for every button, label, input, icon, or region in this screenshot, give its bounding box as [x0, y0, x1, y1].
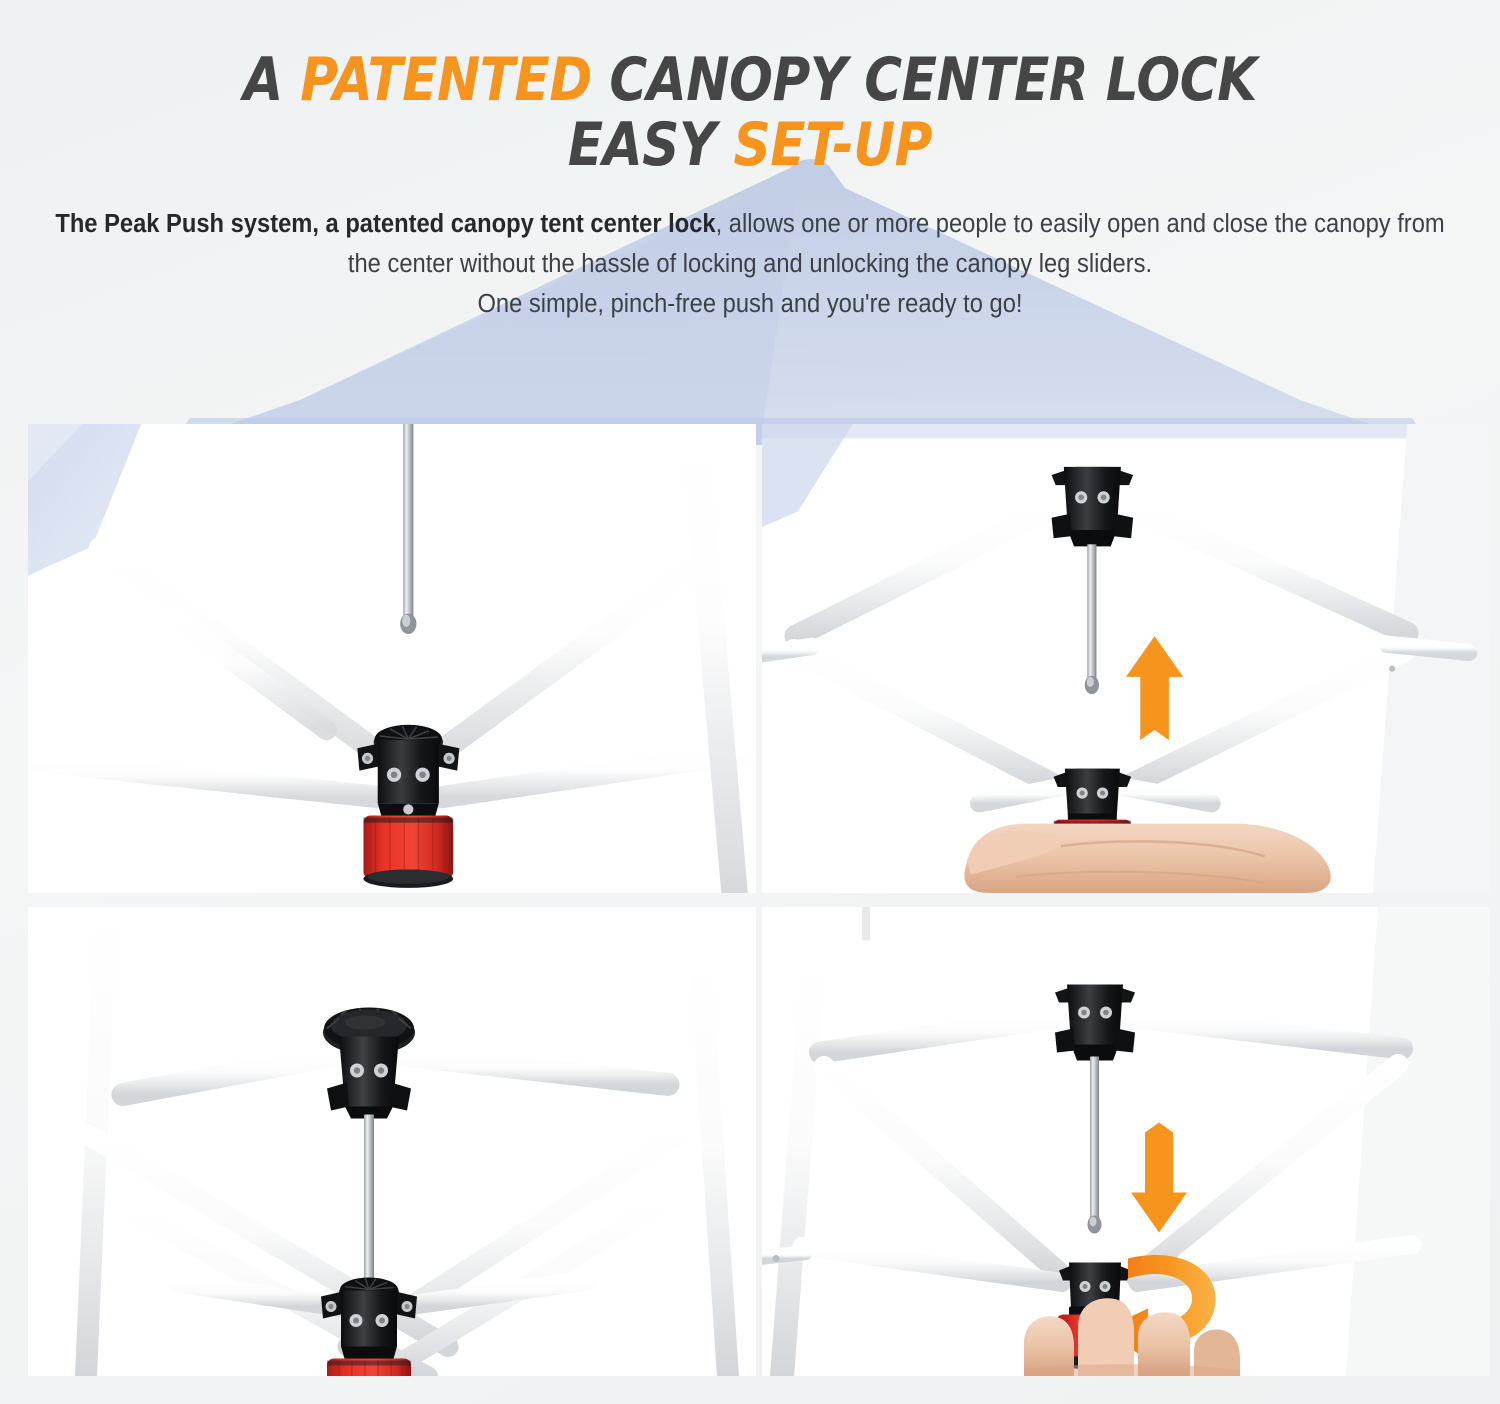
- title-line-2: EASY SET-UP: [568, 110, 932, 180]
- title-text-c: EASY: [568, 110, 734, 180]
- infographic-page: A PATENTED CANOPY CENTER LOCK EASY SET-U…: [0, 0, 1500, 1404]
- panel-locked-position: [28, 907, 756, 1376]
- title-highlight-setup: SET-UP: [733, 110, 932, 180]
- open-hand-graphic: [964, 824, 1330, 893]
- description-closing: One simple, pinch-free push and you're r…: [477, 290, 1022, 318]
- panel-push-up-to-open: [762, 424, 1490, 893]
- description-lead: The Peak Push system, a patented canopy …: [55, 210, 715, 238]
- page-title: A PATENTED CANOPY CENTER LOCK EASY SET-U…: [105, 48, 1395, 178]
- page-description: The Peak Push system, a patented canopy …: [53, 204, 1448, 325]
- title-text-a: A: [243, 45, 300, 115]
- panel-center-lock-closeup: [28, 424, 756, 893]
- feature-photo-grid: [28, 424, 1490, 1376]
- header: A PATENTED CANOPY CENTER LOCK EASY SET-U…: [0, 0, 1500, 324]
- title-text-b: CANOPY CENTER LOCK: [592, 45, 1257, 115]
- title-highlight-patented: PATENTED: [300, 45, 592, 115]
- title-line-1: A PATENTED CANOPY CENTER LOCK: [243, 45, 1257, 115]
- panel-twist-and-lower-to-close: [762, 907, 1490, 1376]
